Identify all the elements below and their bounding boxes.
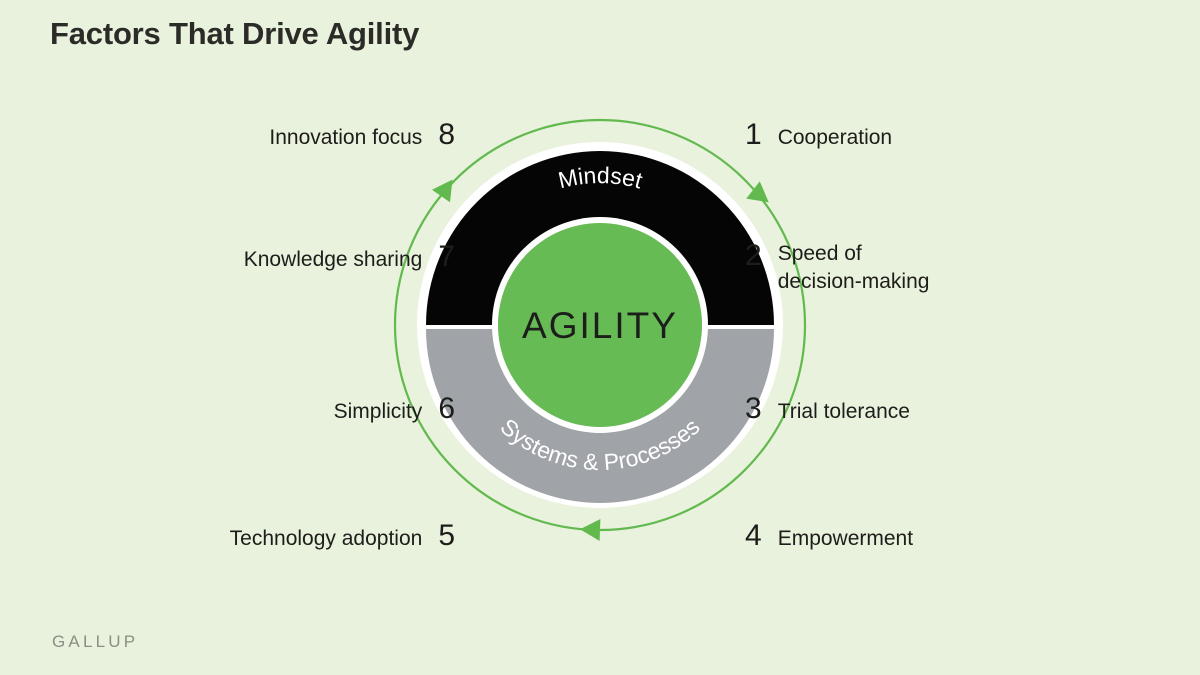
factor-item-3: 3 Trial tolerance (745, 392, 910, 426)
factor-number-6: 6 (438, 392, 455, 425)
factor-label-2: Speed of decision-making (778, 240, 930, 297)
factor-number-7: 7 (438, 240, 455, 273)
factor-item-8: Innovation focus 8 (269, 118, 455, 152)
factor-number-8: 8 (438, 118, 455, 151)
factor-number-1: 1 (745, 118, 762, 151)
factor-item-6: Simplicity 6 (334, 392, 455, 426)
factor-label-3: Trial tolerance (778, 398, 910, 426)
center-label-text: AGILITY (522, 305, 678, 346)
factor-label-6: Simplicity (334, 398, 423, 426)
factor-label-2-line1: Speed of (778, 242, 862, 265)
factor-item-1: 1 Cooperation (745, 118, 892, 152)
brand-logo: GALLUP (52, 632, 138, 652)
factor-label-5: Technology adoption (230, 525, 423, 553)
factor-number-3: 3 (745, 392, 762, 425)
factor-number-5: 5 (438, 519, 455, 552)
factor-label-4: Empowerment (778, 525, 913, 553)
factor-item-5: Technology adoption 5 (230, 519, 455, 553)
factor-label-7: Knowledge sharing (244, 246, 423, 274)
factor-number-4: 4 (745, 519, 762, 552)
factor-label-1: Cooperation (778, 124, 892, 152)
arrow-head-bottom-icon (580, 518, 601, 541)
agility-diagram: Mindset Systems & Processes AGILITY (0, 0, 1200, 675)
factor-label-8: Innovation focus (269, 124, 422, 152)
agility-diagram-svg: Mindset Systems & Processes AGILITY (0, 0, 1200, 675)
center-label: AGILITY (522, 305, 678, 346)
factor-item-2: 2 Speed of decision-making (745, 240, 929, 297)
factor-item-7: Knowledge sharing 7 (244, 240, 455, 274)
factor-label-2-line2: decision-making (778, 270, 930, 293)
factor-item-4: 4 Empowerment (745, 519, 913, 553)
factor-number-2: 2 (745, 241, 762, 271)
